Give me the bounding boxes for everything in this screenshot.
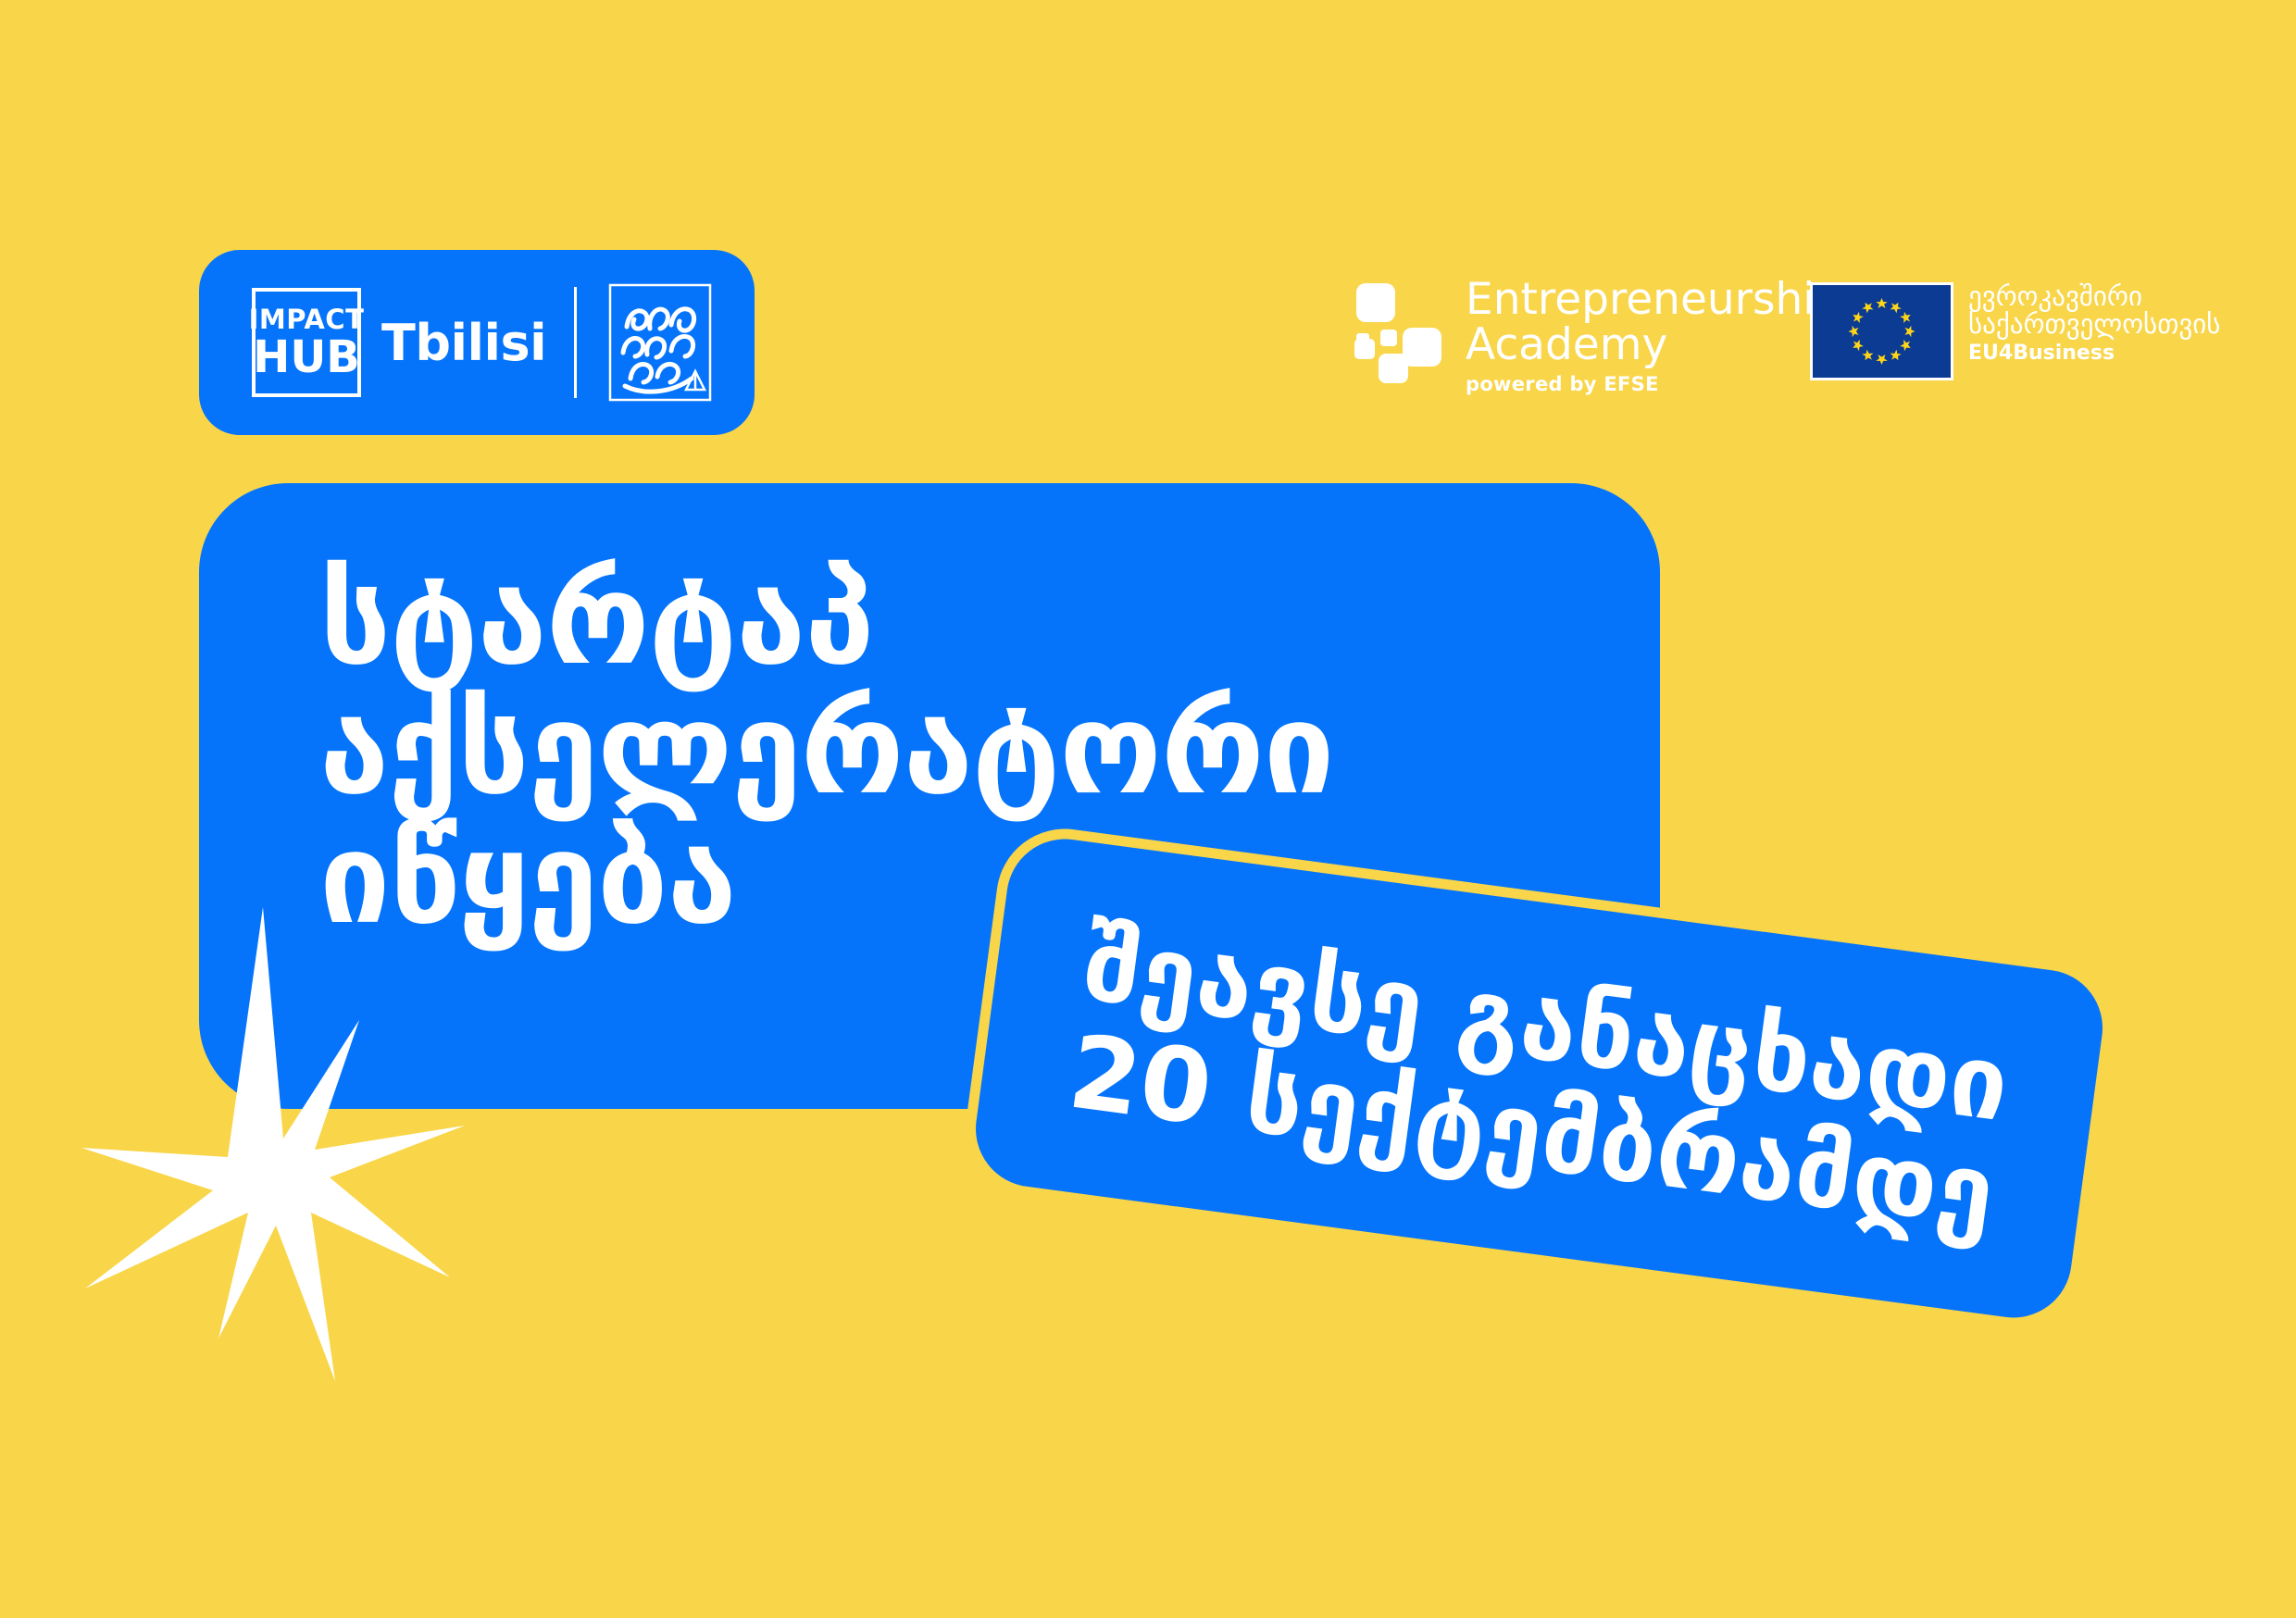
- eu-line-sakartvelostvis: საქართველოსთვის: [1968, 310, 2220, 338]
- sparkle-star-icon: [81, 907, 480, 1388]
- headline-line-2: აქსელერატორი: [319, 685, 1334, 815]
- entrepreneurship-academy-text: Entrepreneurship Academy powered by EFSE: [1466, 278, 1842, 394]
- impact-hub-impact-label: IMPACT: [249, 306, 365, 333]
- georgian-partner-script-logo-icon: [606, 282, 714, 403]
- impact-hub-city-label: Tbilisi: [381, 314, 546, 372]
- eu4business-logo: ევროკავშირი საქართველოსთვის EU4Business: [1810, 282, 2220, 380]
- squares-blocks-icon: [1354, 281, 1451, 392]
- entrepreneurship-academy-logo: Entrepreneurship Academy powered by EFSE: [1354, 278, 1842, 394]
- impact-hub-logo-card: IMPACT HUB Tbilisi: [199, 250, 755, 435]
- impact-hub-mark-icon: IMPACT HUB: [252, 288, 361, 397]
- eu-line-eu4business: EU4Business: [1968, 343, 2220, 365]
- eu-line-evrokavshiri: ევროკავშირი: [1968, 282, 2220, 310]
- deadline-badge[interactable]: შეავსე განაცხადი 20 სექტემბრამდე: [957, 820, 2121, 1336]
- headline-line-1: სტარტაპ: [319, 555, 1334, 685]
- eu-flag-icon: [1810, 282, 1953, 380]
- ea-line-entrepreneurship: Entrepreneurship: [1466, 278, 1842, 321]
- cta-badge-wrapper: შეავსე განაცხადი 20 სექტემბრამდე: [977, 893, 2102, 1291]
- ea-line-academy: Academy: [1466, 323, 1842, 367]
- ea-line-powered-by: powered by EFSE: [1466, 375, 1842, 394]
- poster-canvas: IMPACT HUB Tbilisi: [0, 0, 2296, 1618]
- impact-hub-hub-label: HUB: [253, 335, 360, 380]
- eu-logo-text: ევროკავშირი საქართველოსთვის EU4Business: [1968, 282, 2220, 365]
- logo-divider: [574, 287, 577, 398]
